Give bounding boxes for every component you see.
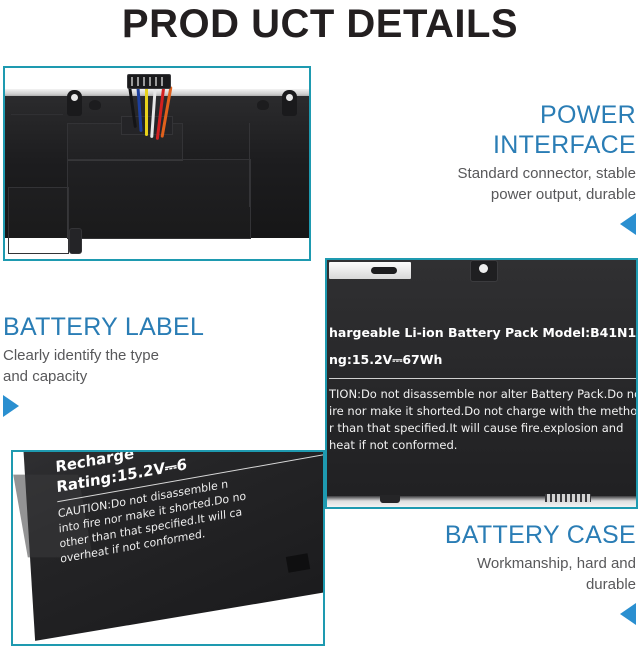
arrow-left-icon bbox=[620, 213, 636, 235]
label-top-silver-strip bbox=[329, 262, 411, 279]
feature-desc-line-2: and capacity bbox=[3, 366, 243, 387]
feature-desc-line-1: Workmanship, hard and bbox=[408, 553, 636, 574]
feature-desc-line-1: Clearly identify the type bbox=[3, 345, 243, 366]
page-title: PROD UCT DETAILS bbox=[0, 2, 640, 47]
feature-heading-battery-case: BATTERY CASE bbox=[408, 520, 636, 550]
battery-cell-outline-b bbox=[67, 159, 251, 239]
mount-tab-right bbox=[282, 90, 297, 116]
photo-battery-case-angled: Recharge Rating:15.2V⎓6 CAUTION:Do not d… bbox=[11, 450, 325, 646]
label-caution-line-2: ire nor make it shorted.Do not charge wi… bbox=[329, 403, 638, 420]
label-caution-line-1: TION:Do not disassemble nor alter Batter… bbox=[329, 386, 638, 403]
power-connector-head bbox=[127, 74, 171, 89]
battery-seam-left bbox=[11, 114, 63, 115]
battery-vent-grille bbox=[545, 494, 591, 502]
feature-heading-battery-label: BATTERY LABEL bbox=[3, 312, 243, 342]
label-caution-line-3: r than that specified.It will cause fire… bbox=[329, 420, 623, 437]
feature-battery-label: BATTERY LABEL Clearly identify the type … bbox=[3, 312, 243, 417]
rubber-bumper-left bbox=[89, 100, 101, 110]
wire-yellow bbox=[145, 86, 148, 136]
feature-heading-power-interface: POWER INTERFACE bbox=[408, 100, 636, 160]
battery-label-surface bbox=[327, 260, 636, 507]
label-rating-text: ng:15.2V⎓67Wh bbox=[329, 352, 442, 368]
battery-seam-right bbox=[249, 123, 250, 207]
battery-cell-outline-c bbox=[8, 187, 69, 254]
label-divider-rule bbox=[329, 378, 638, 379]
feature-desc-line-1: Standard connector, stable bbox=[408, 163, 636, 184]
label-header-text: hargeable Li-ion Battery Pack Model:B41N… bbox=[329, 325, 638, 340]
battery-port-slot bbox=[69, 228, 82, 254]
feature-battery-case: BATTERY CASE Workmanship, hard and durab… bbox=[408, 520, 636, 625]
feature-desc-line-2: power output, durable bbox=[408, 184, 636, 205]
mount-tab-left bbox=[67, 90, 82, 116]
arrow-right-icon bbox=[3, 395, 19, 417]
battery-bottom-notch bbox=[380, 495, 400, 503]
rubber-bumper-right bbox=[257, 100, 269, 110]
arrow-left-icon bbox=[620, 603, 636, 625]
feature-desc-line-2: durable bbox=[408, 574, 636, 595]
photo-connector-top-view bbox=[3, 66, 311, 261]
photo-battery-label-closeup: hargeable Li-ion Battery Pack Model:B41N… bbox=[325, 258, 638, 509]
feature-power-interface: POWER INTERFACE Standard connector, stab… bbox=[408, 100, 636, 235]
feature-desc-battery-case: Workmanship, hard and durable bbox=[408, 553, 636, 595]
label-caution-line-4: heat if not conformed. bbox=[329, 437, 457, 454]
feature-desc-battery-label: Clearly identify the type and capacity bbox=[3, 345, 243, 387]
feature-desc-power-interface: Standard connector, stable power output,… bbox=[408, 163, 636, 205]
label-mount-tab bbox=[470, 260, 498, 282]
angled-battery-stage: Recharge Rating:15.2V⎓6 CAUTION:Do not d… bbox=[13, 452, 323, 644]
